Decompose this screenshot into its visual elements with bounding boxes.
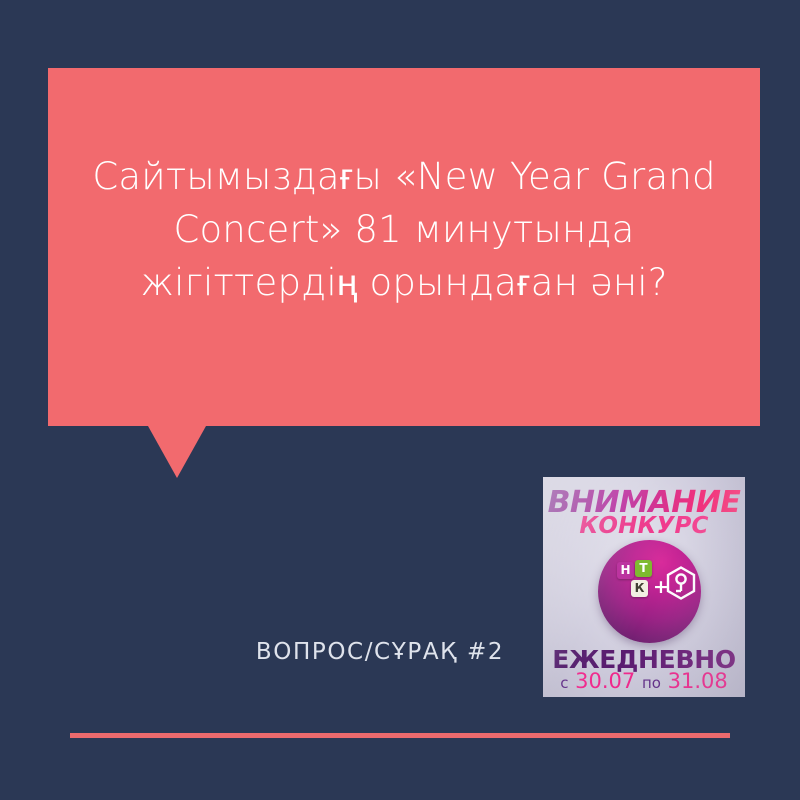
badge-date-from: 30.07 [575,669,635,693]
ntk-tile-k: К [631,580,648,597]
person-hexagon-icon [666,566,696,600]
badge-date-to: 31.08 [668,669,728,693]
contest-badge-image: ВНИМАНИЕ КОНКУРС Н Т К + ЕЖЕДНЕВНО с 30.… [543,477,745,697]
slide-canvas: Сайтымыздағы «New Year Grand Concert» 81… [0,0,800,800]
speech-bubble-tail-icon [148,426,206,478]
bottom-divider [70,733,730,738]
ntk-tile-n: Н [617,562,634,579]
question-text: Сайтымыздағы «New Year Grand Concert» 81… [48,150,760,309]
badge-contest-text: КОНКУРС [543,513,745,539]
ntk-tile-t: Т [635,560,652,577]
badge-date-to-word: по [642,674,661,692]
badge-dates-row: с 30.07 по 31.08 [543,669,745,693]
badge-logo-circle: Н Т К + [598,540,701,643]
badge-date-from-word: с [560,674,568,692]
